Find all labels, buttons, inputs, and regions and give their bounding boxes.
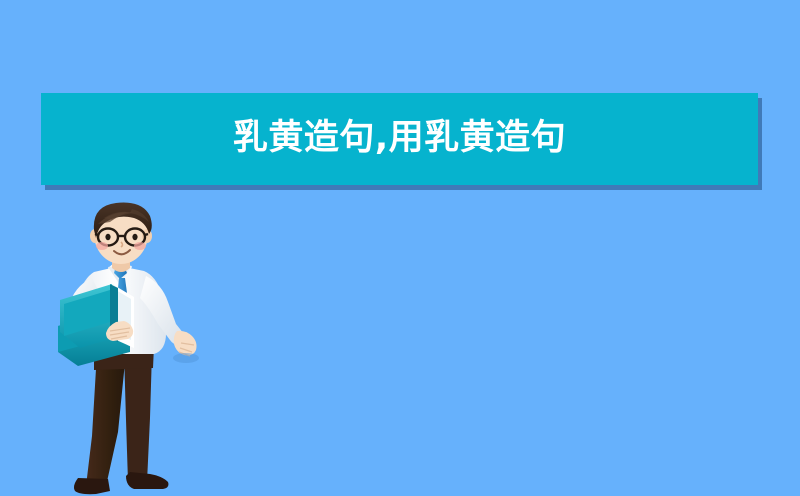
shoe-back (74, 478, 110, 494)
eye-left (105, 234, 110, 240)
trouser-front-leg (124, 352, 152, 482)
trouser-back-leg (86, 352, 126, 486)
eye-right (132, 234, 137, 240)
shoe-front (126, 472, 168, 489)
businessman-icon (34, 200, 214, 496)
cheek-right (134, 242, 146, 250)
page-title: 乳黄造句,用乳黄造句 (233, 121, 566, 156)
right-hand-shadow (173, 353, 199, 363)
walking-businessman-illustration (34, 200, 214, 496)
page-root: 乳黄造句,用乳黄造句 (0, 0, 800, 496)
cheek-left (96, 242, 108, 250)
title-banner: 乳黄造句,用乳黄造句 (41, 93, 758, 185)
